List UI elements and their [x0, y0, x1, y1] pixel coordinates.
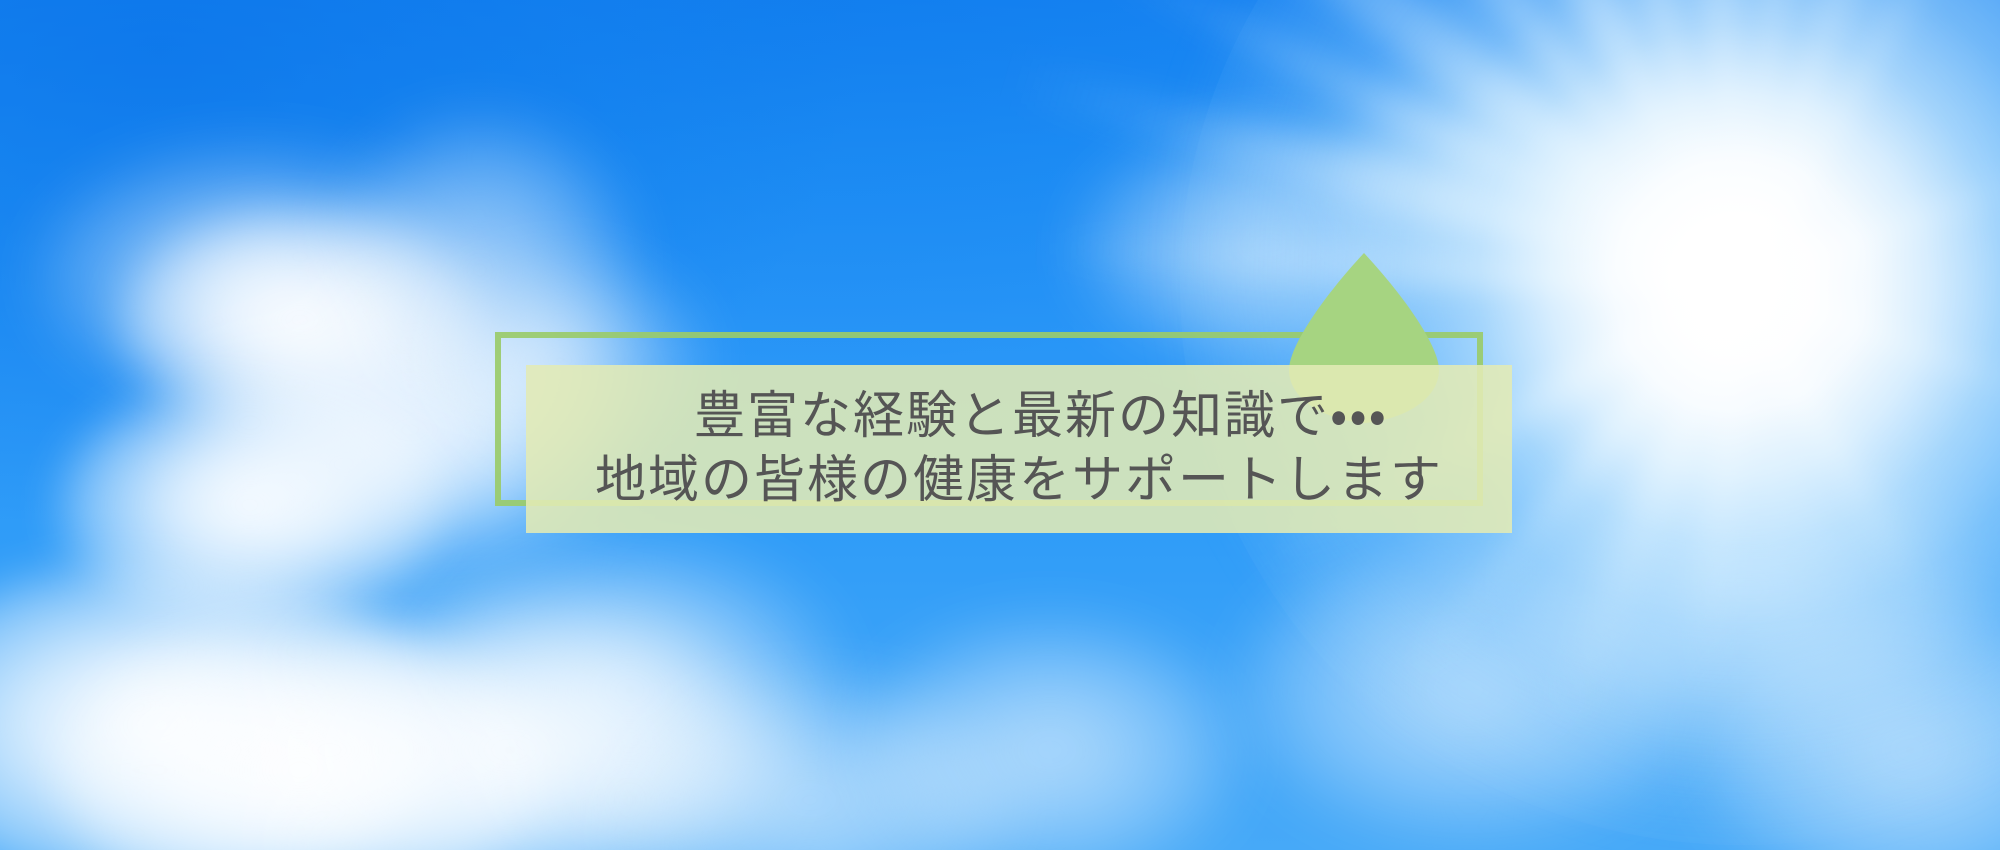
headline-block: 豊富な経験と最新の知識で・・・ 地域の皆様の健康をサポートします	[526, 365, 1512, 533]
hero-banner: 豊富な経験と最新の知識で・・・ 地域の皆様の健康をサポートします	[0, 0, 2000, 850]
headline-line-1: 豊富な経験と最新の知識で・・・	[650, 387, 1388, 447]
hero-content: 豊富な経験と最新の知識で・・・ 地域の皆様の健康をサポートします	[0, 0, 2000, 850]
headline-line-2: 地域の皆様の健康をサポートします	[595, 451, 1443, 511]
